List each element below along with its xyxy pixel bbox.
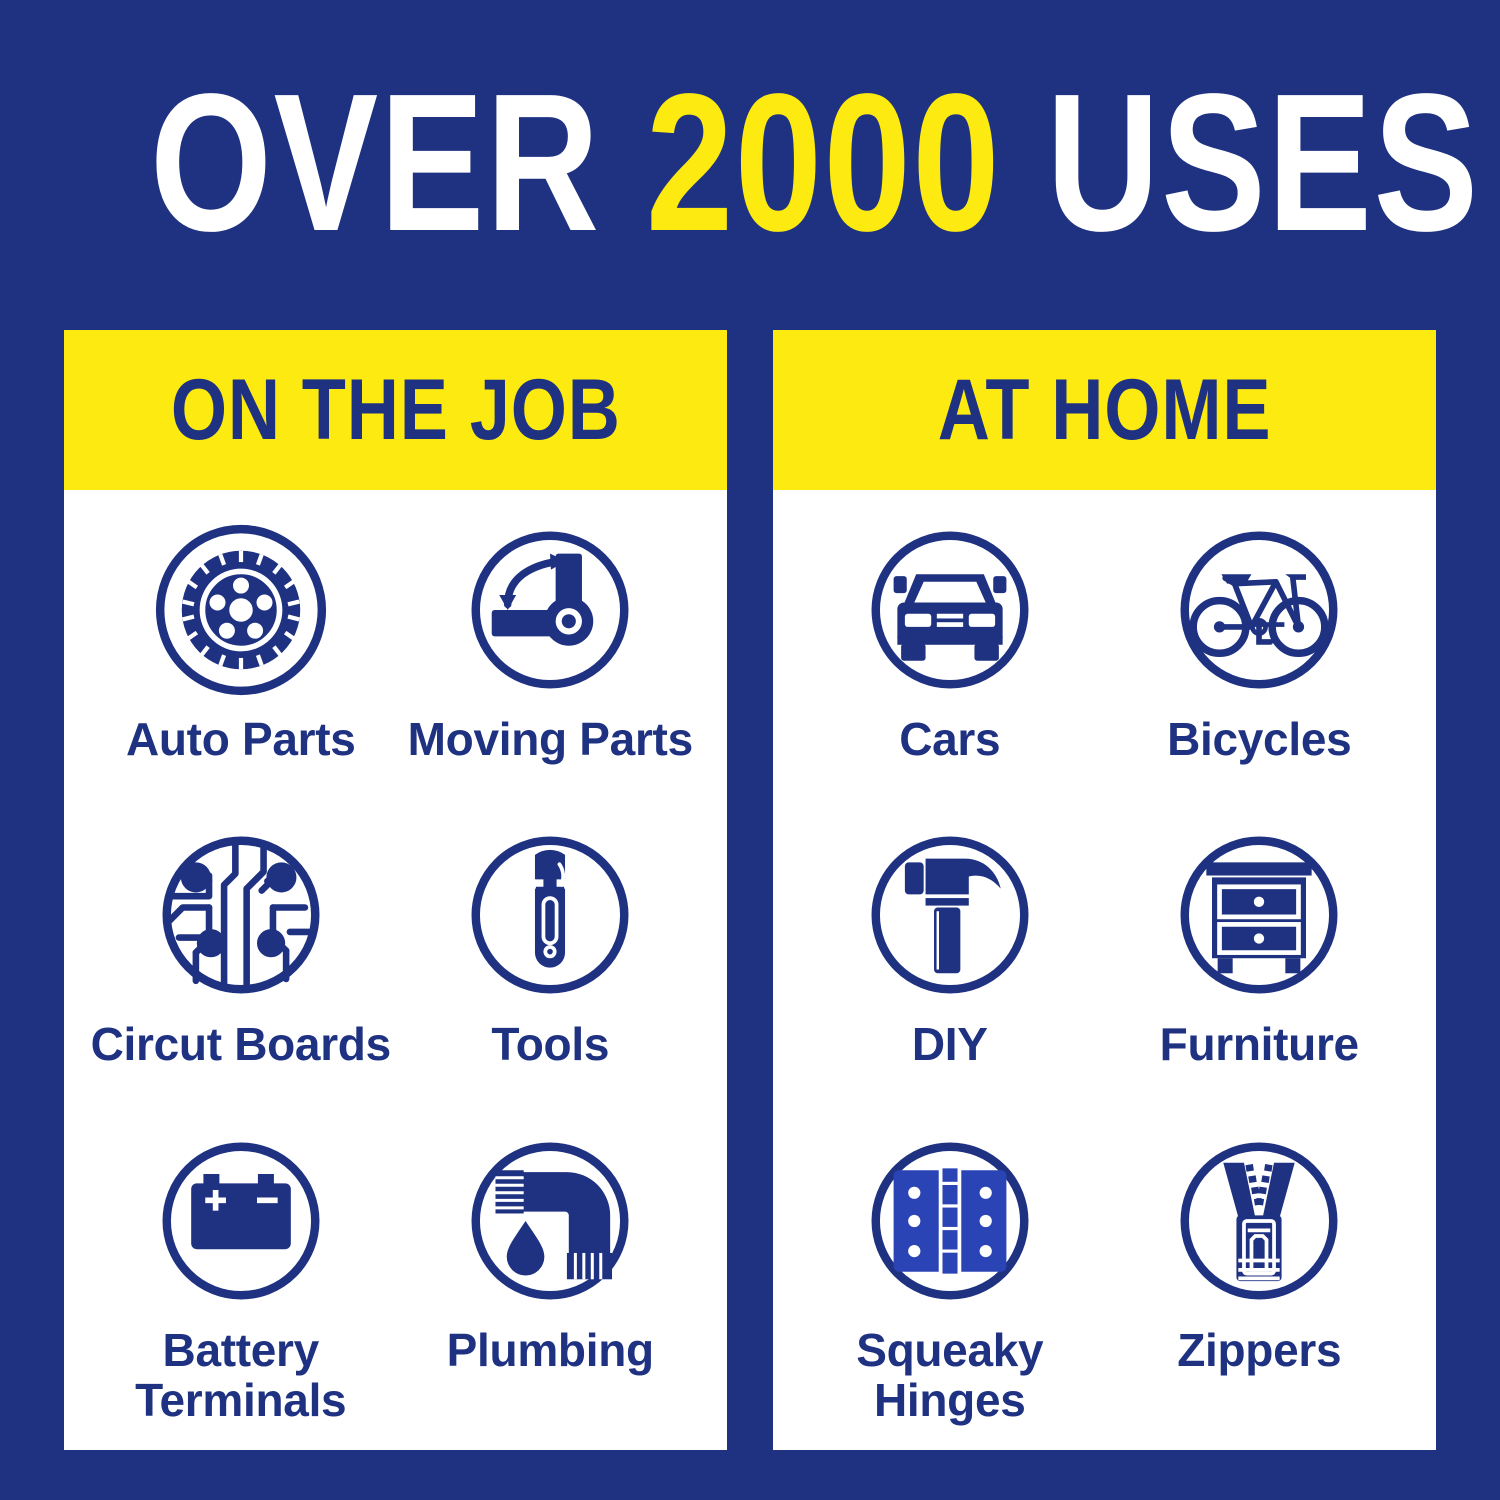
tile-label: Furniture	[1160, 1019, 1359, 1069]
tile-label: Zippers	[1177, 1325, 1341, 1375]
tile-auto-parts[interactable]: Auto Parts	[86, 510, 396, 815]
panel-on-the-job: ON THE JOB	[64, 330, 727, 1450]
car-battery-icon	[147, 1127, 335, 1315]
hammer-icon	[856, 821, 1044, 1009]
panel-header-title: AT HOME	[938, 367, 1272, 453]
pipe-elbow-icon	[456, 1127, 644, 1315]
tile-label: Squeaky Hinges	[856, 1325, 1043, 1425]
tile-cars[interactable]: Cars	[795, 510, 1105, 815]
zipper-icon	[1165, 1127, 1353, 1315]
tile-label: Moving Parts	[408, 714, 693, 764]
tile-squeaky-hinges[interactable]: Squeaky Hinges	[795, 1121, 1105, 1426]
nightstand-icon	[1165, 821, 1353, 1009]
tile-zippers[interactable]: Zippers	[1105, 1121, 1415, 1426]
wrench-icon	[456, 821, 644, 1009]
car-front-icon	[856, 516, 1044, 704]
tile-tools[interactable]: Tools	[396, 815, 706, 1120]
panel-header-title: ON THE JOB	[171, 367, 621, 453]
panel-at-home: AT HOME	[773, 330, 1436, 1450]
headline-accent-number: 2000	[646, 53, 1001, 272]
panel-body-on-the-job: Auto Parts Moving Parts	[64, 490, 727, 1450]
bicycle-icon	[1165, 516, 1353, 704]
tile-diy[interactable]: DIY	[795, 815, 1105, 1120]
tire-icon	[147, 516, 335, 704]
tile-label: Battery Terminals	[135, 1325, 346, 1425]
tile-moving-parts[interactable]: Moving Parts	[396, 510, 706, 815]
tile-label: Cars	[899, 714, 1000, 764]
headline-part-1: OVER	[150, 53, 646, 272]
tile-label: Bicycles	[1167, 714, 1351, 764]
tile-battery-terminals[interactable]: Battery Terminals	[86, 1121, 396, 1426]
panel-header-at-home: AT HOME	[773, 330, 1436, 490]
pivot-joint-icon	[456, 516, 644, 704]
tile-circut-boards[interactable]: Circut Boards	[86, 815, 396, 1120]
tile-furniture[interactable]: Furniture	[1105, 815, 1415, 1120]
tile-plumbing[interactable]: Plumbing	[396, 1121, 706, 1426]
door-hinge-icon	[856, 1127, 1044, 1315]
page-title: OVER 2000 USES	[150, 58, 1350, 268]
tile-label: Auto Parts	[126, 714, 356, 764]
headline-part-2: USES	[1001, 53, 1480, 272]
panel-header-on-the-job: ON THE JOB	[64, 330, 727, 490]
tile-label: DIY	[912, 1019, 988, 1069]
panel-body-at-home: Cars	[773, 490, 1436, 1450]
circuit-board-icon	[147, 821, 335, 1009]
tile-label: Tools	[491, 1019, 609, 1069]
panels-container: ON THE JOB	[64, 330, 1436, 1450]
tile-label: Plumbing	[447, 1325, 654, 1375]
tile-label: Circut Boards	[91, 1019, 391, 1069]
tile-bicycles[interactable]: Bicycles	[1105, 510, 1415, 815]
